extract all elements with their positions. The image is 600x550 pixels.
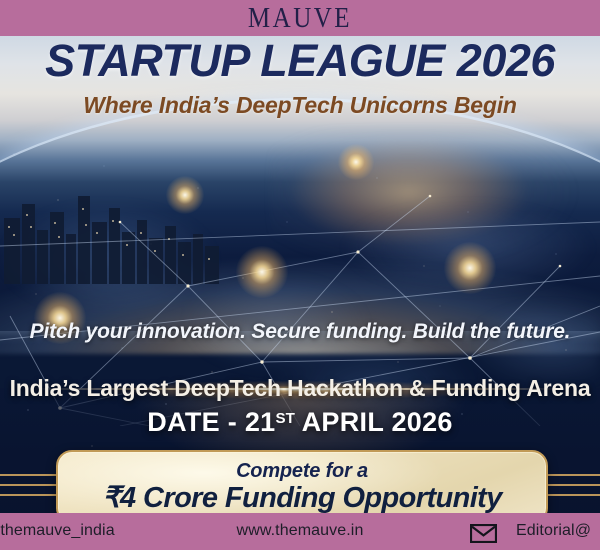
event-date: DATE - 21ST APRIL 2026 bbox=[0, 407, 600, 438]
footer-email-address[interactable]: Editorial@ bbox=[516, 522, 591, 540]
footer-contact-bar: @themauve_india www.themauve.in Editoria… bbox=[0, 513, 600, 550]
event-date-ordinal: ST bbox=[276, 410, 295, 427]
gold-rule-right bbox=[540, 467, 600, 507]
event-date-prefix: DATE - 21 bbox=[147, 407, 275, 437]
brand-bar: MAUVE bbox=[0, 0, 600, 36]
arena-description: India’s Largest DeepTech Hackathon & Fun… bbox=[0, 375, 600, 402]
event-date-suffix: APRIL 2026 bbox=[295, 407, 453, 437]
gold-rule-left bbox=[0, 467, 62, 507]
event-subheadline: Where India’s DeepTech Unicorns Begin bbox=[0, 92, 600, 119]
funding-amount-label: ₹4 Crore Funding Opportunity bbox=[102, 483, 502, 513]
footer-website-url[interactable]: www.themauve.in bbox=[0, 522, 600, 540]
envelope-icon bbox=[470, 524, 497, 543]
event-headline: STARTUP LEAGUE 2026 bbox=[0, 38, 600, 84]
mauve-logo-wordmark: MAUVE bbox=[248, 4, 352, 32]
pitch-tagline: Pitch your innovation. Secure funding. B… bbox=[0, 320, 600, 344]
funding-compete-label: Compete for a bbox=[236, 461, 368, 482]
promotional-poster: MAUVE bbox=[0, 0, 600, 550]
